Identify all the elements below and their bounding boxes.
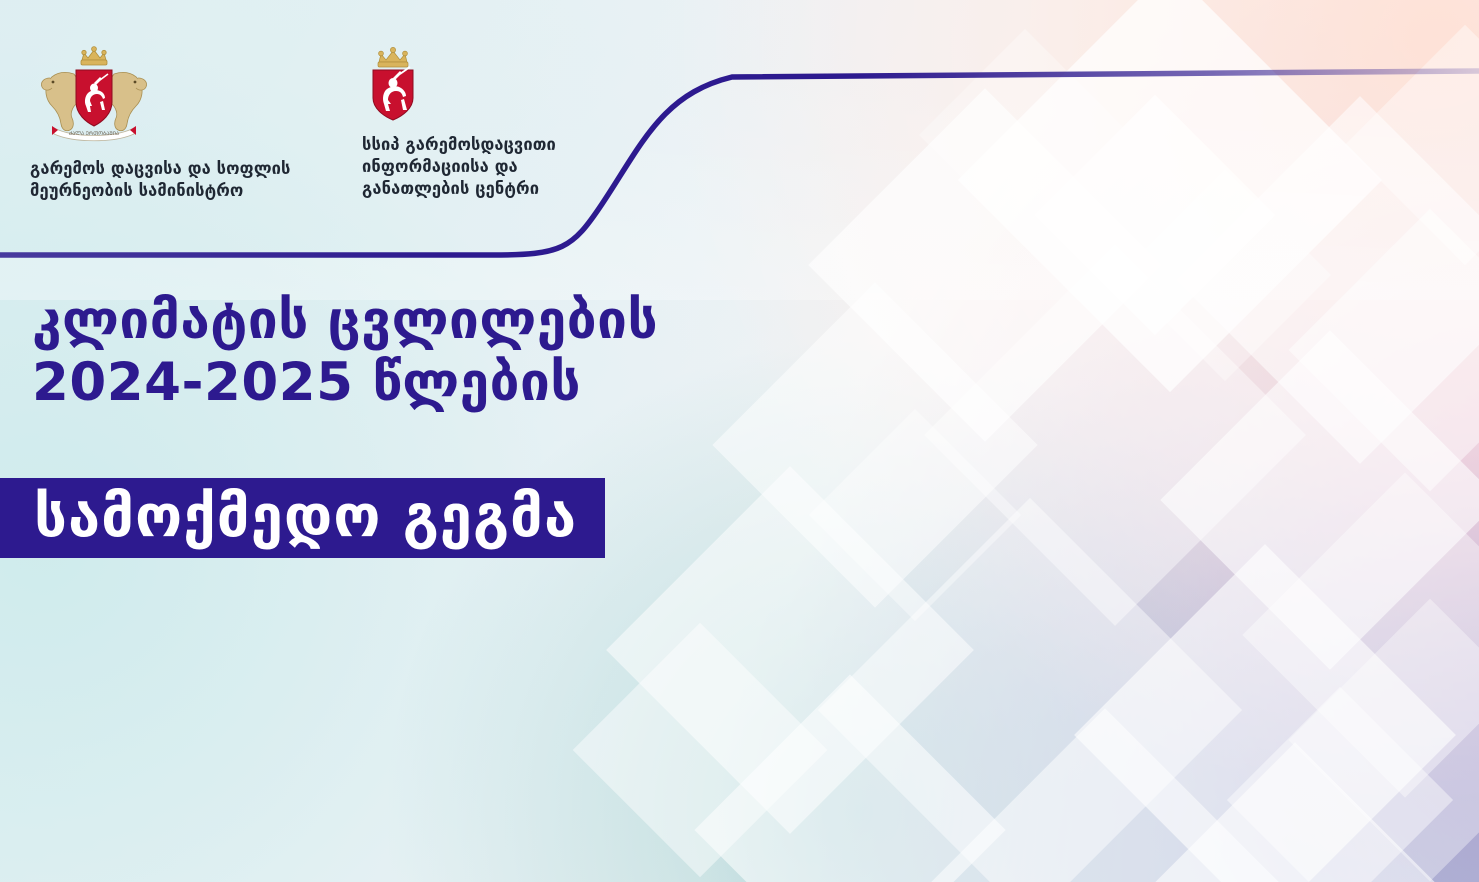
cover-page: ᲫᲐᲚᲐ ᲔᲠᲗᲝᲑᲐᲨᲘᲐ გარემოს დაცვისა და სოფლის… [0,0,1479,882]
org-name-line: გარემოს დაცვისა და სოფლის [30,158,320,180]
subtitle-banner: სამოქმედო გეგმა [0,478,605,558]
header-logos: ᲫᲐᲚᲐ ᲔᲠᲗᲝᲑᲐᲨᲘᲐ გარემოს დაცვისა და სოფლის… [0,0,660,220]
title-line-1: კლიმატის ცვლილების [32,290,932,352]
org-name-line: მეურნეობის სამინისტრო [30,180,320,202]
svg-text:ᲫᲐᲚᲐ ᲔᲠᲗᲝᲑᲐᲨᲘᲐ: ᲫᲐᲚᲐ ᲔᲠᲗᲝᲑᲐᲨᲘᲐ [69,131,119,137]
org-name-center: სსიპ გარემოსდაცვითი ინფორმაციისა და განა… [362,134,612,199]
org-name-line: სსიპ გარემოსდაცვითი [362,134,612,156]
org-name-ministry: გარემოს დაცვისა და სოფლის მეურნეობის სამ… [30,158,320,202]
logo-center: სსიპ გარემოსდაცვითი ინფორმაციისა და განა… [362,46,612,199]
org-name-line: განათლების ცენტრი [362,178,612,200]
page-title: კლიმატის ცვლილების 2024-2025 წლების [32,290,932,414]
org-name-line: ინფორმაციისა და [362,156,612,178]
georgia-coat-of-arms-icon: ᲫᲐᲚᲐ ᲔᲠᲗᲝᲑᲐᲨᲘᲐ [30,44,320,150]
logo-ministry: ᲫᲐᲚᲐ ᲔᲠᲗᲝᲑᲐᲨᲘᲐ გარემოს დაცვისა და სოფლის… [30,44,320,202]
title-line-2: 2024-2025 წლების [32,352,932,414]
banner-label: სამოქმედო გეგმა [34,487,577,545]
georgia-shield-crowned-icon [362,46,612,126]
